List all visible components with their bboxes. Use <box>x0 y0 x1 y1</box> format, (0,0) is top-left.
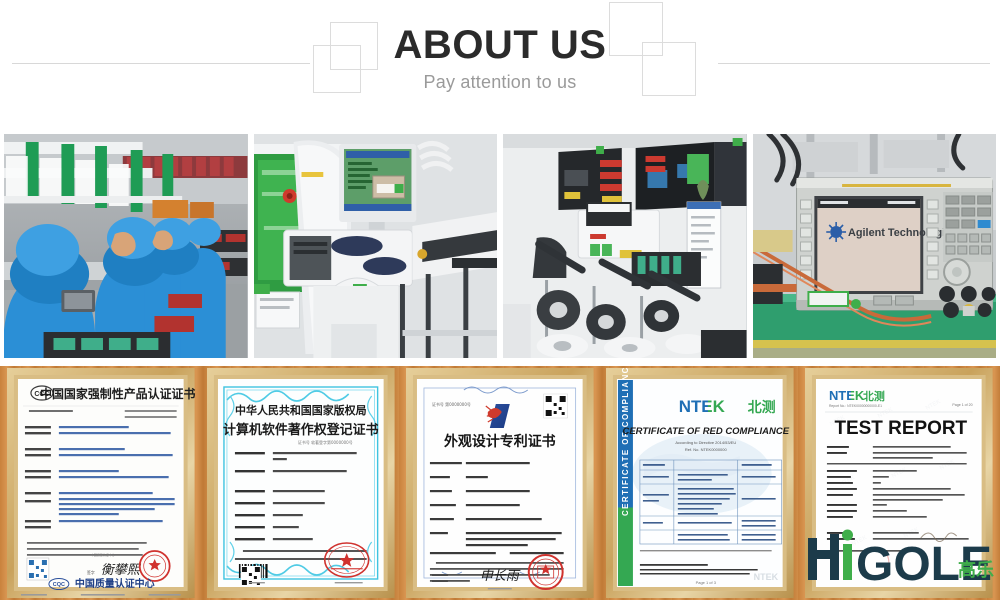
certificate-ntek-red-compliance-certificate[interactable]: CERTIFICATE OF COMPLIANCE NTEK 北测 CERTIF… <box>602 366 798 600</box>
certificates-gallery: CCC 中国国家强制性产品认证证书 <box>0 366 1000 600</box>
svg-text:中国质量认证中心: 中国质量认证中心 <box>91 552 115 557</box>
svg-text:外观设计专利证书: 外观设计专利证书 <box>444 433 556 450</box>
gallery-photo-pick-and-place-machines[interactable] <box>503 134 747 358</box>
svg-text:证书号 软著登字第0000000号: 证书号 软著登字第0000000号 <box>297 439 352 445</box>
svg-text:申长雨: 申长雨 <box>480 569 521 584</box>
svg-text:CERTIFICATE OF RED COMPLIANCE: CERTIFICATE OF RED COMPLIANCE <box>622 426 789 437</box>
svg-text:NTEK: NTEK <box>678 397 725 416</box>
gallery-photo-smt-inspection-machine[interactable] <box>254 134 498 358</box>
svg-text:中国质量认证中心: 中国质量认证中心 <box>75 577 155 590</box>
svg-text:Report No.: NTEK00000000000-E1: Report No.: NTEK00000000000-E1 <box>829 404 882 408</box>
svg-text:证书号 第0000000号: 证书号 第0000000号 <box>432 401 471 407</box>
certificate-design-patent-certificate[interactable]: 证书号 第0000000号 外观设计专 <box>402 366 598 600</box>
certificate-software-copyright-certificate[interactable]: 中华人民共和国国家版权局 计算机软件著作权登记证书 证书号 软著登字第00000… <box>203 366 399 600</box>
svg-text:Agilent Technologies: Agilent Technologies <box>848 227 957 239</box>
svg-text:Page 1 of 3: Page 1 of 3 <box>695 580 716 585</box>
gallery-photo-agilent-test-equipment[interactable]: Agilent Technologies <box>753 134 997 358</box>
svg-text:TEST REPORT: TEST REPORT <box>835 418 968 439</box>
certificate-ntek-test-report[interactable]: NTEK NTEK NTEK NTEK NTEK NTEK NTEK NTEK … <box>801 366 997 600</box>
svg-text:CQC: CQC <box>53 582 65 588</box>
header-text-block: ABOUT US Pay attention to us <box>0 0 1000 94</box>
gallery-photo-assembly-line-workers[interactable] <box>4 134 248 358</box>
svg-text:计算机软件著作权登记证书: 计算机软件著作权登记证书 <box>223 422 378 438</box>
svg-text:NTEK: NTEK <box>753 572 778 582</box>
svg-text:According to Directive 2014/5: According to Directive 2014/53/EU <box>675 440 736 445</box>
svg-text:Ref. No. NTEK0000000: Ref. No. NTEK0000000 <box>685 447 728 452</box>
page-title: ABOUT US <box>0 0 1000 68</box>
factory-photo-gallery: Agilent Technologies <box>0 134 1000 358</box>
svg-text:北测: 北测 <box>747 399 775 416</box>
certificate-ccc-product-certificate[interactable]: CCC 中国国家强制性产品认证证书 <box>3 366 199 600</box>
svg-text:CERTIFICATE OF COMPLIANCE: CERTIFICATE OF COMPLIANCE <box>621 366 630 516</box>
about-us-page: ABOUT US Pay attention to us <box>0 0 1000 600</box>
page-header: ABOUT US Pay attention to us <box>0 0 1000 120</box>
svg-text:中国国家强制性产品认证证书: 中国国家强制性产品认证证书 <box>40 386 195 401</box>
svg-text:签字: 签字 <box>87 569 95 575</box>
svg-text:衡攀熙: 衡攀熙 <box>101 563 142 578</box>
svg-text:NTEK: NTEK <box>829 388 865 403</box>
svg-text:中华人民共和国国家版权局: 中华人民共和国国家版权局 <box>235 403 367 417</box>
svg-text:Page 1 of 20: Page 1 of 20 <box>953 403 973 407</box>
page-subtitle: Pay attention to us <box>0 68 1000 94</box>
svg-text:北测: 北测 <box>863 389 885 403</box>
